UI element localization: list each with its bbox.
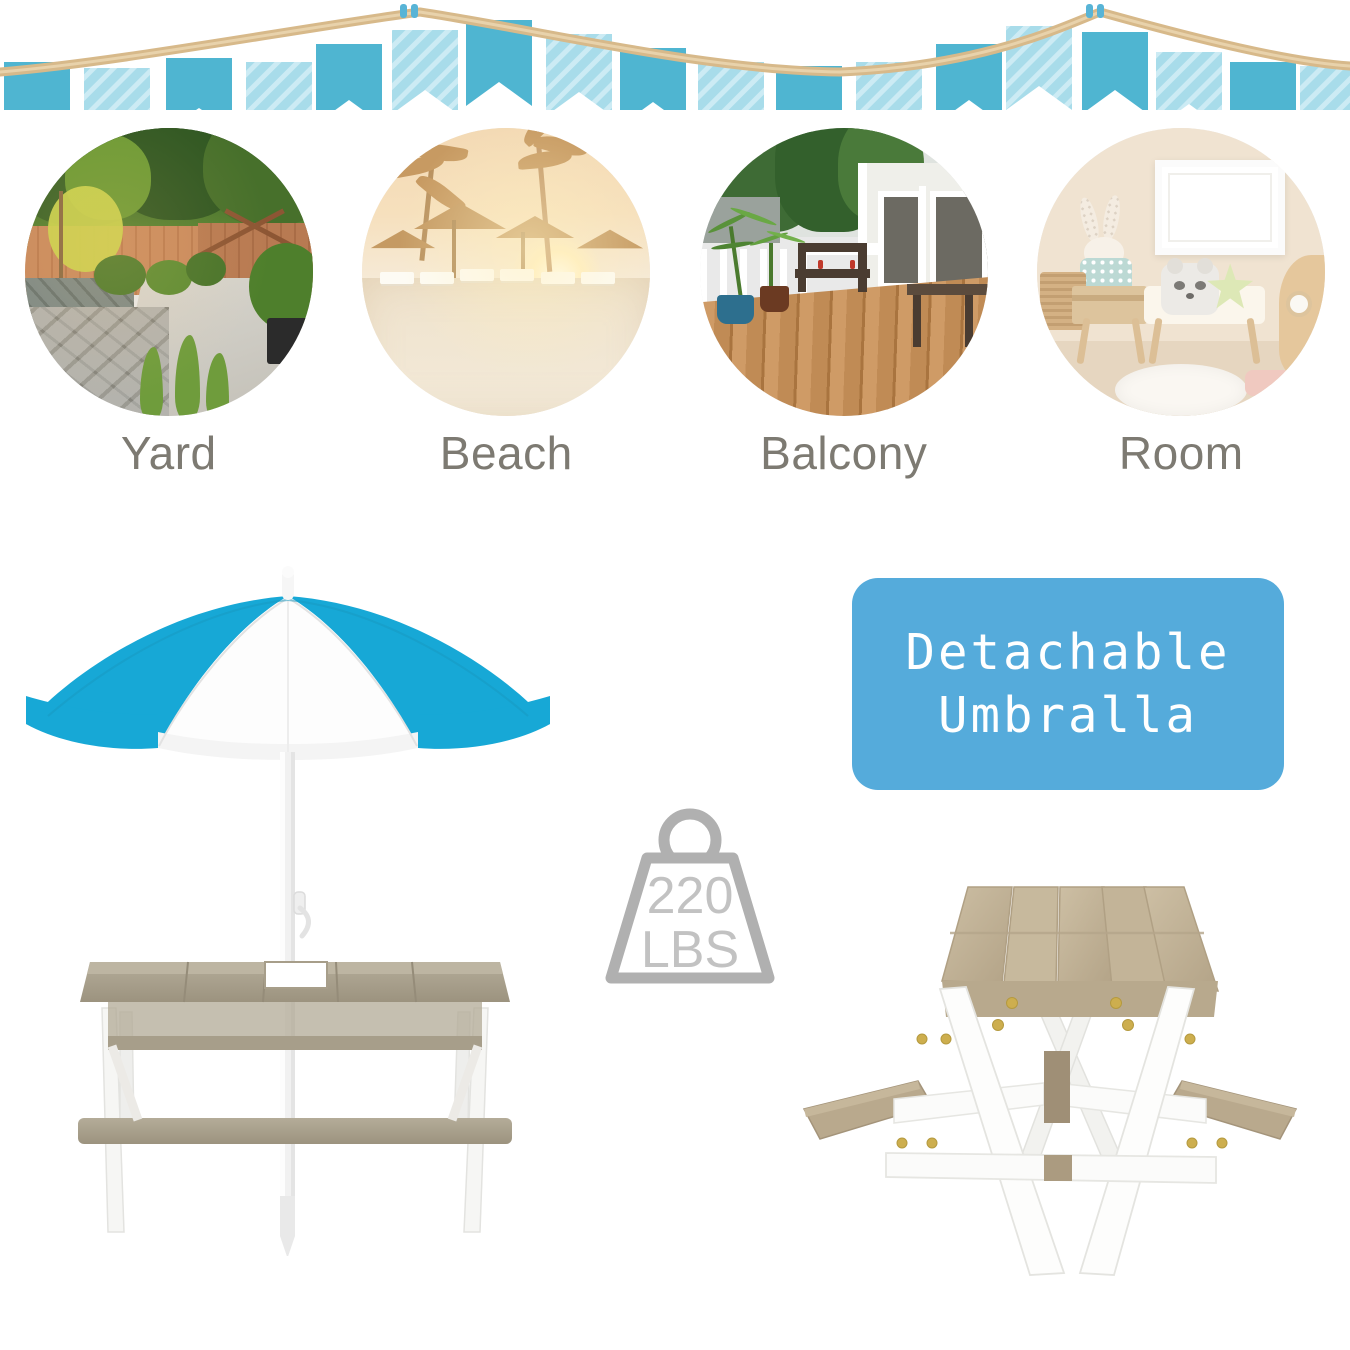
scene-label: Yard — [121, 430, 217, 476]
bench-seat-front — [78, 1118, 512, 1144]
scene-room[interactable]: Room — [1013, 128, 1350, 518]
umbrella-tilt-lever — [294, 892, 309, 936]
picnic-table-front-view — [60, 950, 530, 1250]
badge-line-2: Umbralla — [938, 691, 1198, 740]
center-block-upper — [1044, 1051, 1070, 1123]
center-block-lower — [1044, 1155, 1072, 1181]
yard-scene-photo — [25, 128, 313, 416]
weight-capacity-icon: 220 LBS — [585, 800, 795, 1000]
picnic-table-angle-view — [790, 855, 1310, 1305]
detachable-umbrella-badge: Detachable Umbralla — [852, 578, 1284, 790]
scene-label: Room — [1119, 430, 1244, 476]
bunting-banner — [0, 0, 1350, 110]
scene-balcony[interactable]: Balcony — [675, 128, 1013, 518]
leg-brace — [112, 1046, 478, 1120]
beach-scene-photo — [362, 128, 650, 416]
umbrella-finial — [282, 566, 294, 600]
room-scene-photo — [1037, 128, 1325, 416]
bunting-clip — [400, 4, 1104, 18]
umbrella-canopy — [26, 596, 550, 760]
scene-label: Beach — [440, 430, 573, 476]
table-stretcher — [108, 1036, 482, 1050]
scene-beach[interactable]: Beach — [338, 128, 676, 518]
table-top — [80, 962, 510, 1002]
weight-value: 220 — [585, 870, 795, 922]
weight-unit: LBS — [585, 924, 795, 976]
bunting-flags — [4, 20, 1350, 110]
scene-yard[interactable]: Yard — [0, 128, 338, 518]
badge-line-1: Detachable — [905, 628, 1230, 677]
balcony-scene-photo — [700, 128, 988, 416]
table-legs-near — [940, 987, 1194, 1275]
usage-scenes: Yard — [0, 128, 1350, 518]
scene-label: Balcony — [760, 430, 927, 476]
